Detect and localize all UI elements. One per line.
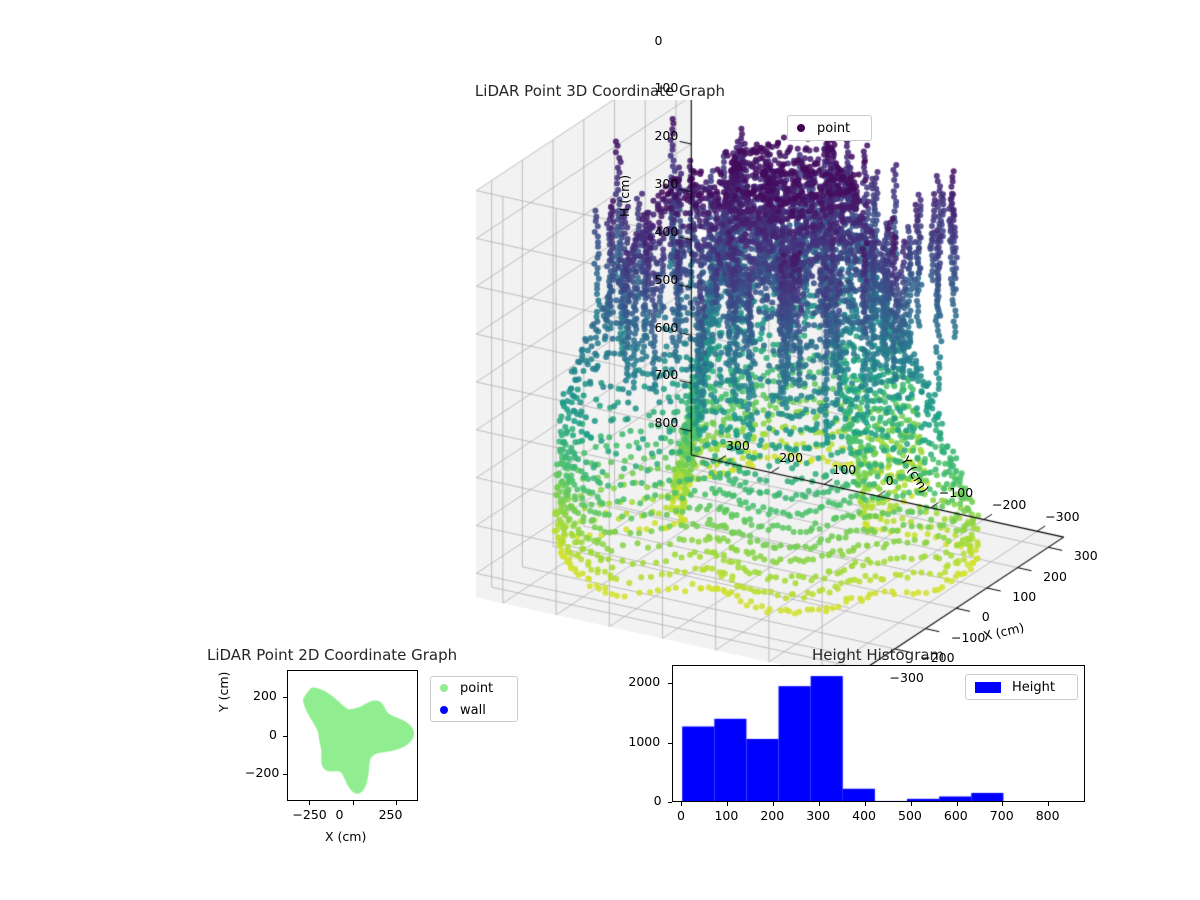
axis-tick-label: 100 xyxy=(1012,589,1036,604)
axis-tick-mark xyxy=(1048,802,1049,806)
axis-tick-label: −200 xyxy=(245,765,279,780)
axis-tick-label: 100 xyxy=(654,80,678,95)
axis-tick-label: 700 xyxy=(990,808,1014,823)
axis-tick-mark xyxy=(396,801,397,805)
plot3d-zlabel: H (cm) xyxy=(617,175,632,217)
axis-tick-label: 300 xyxy=(806,808,830,823)
axis-tick-label: 0 xyxy=(654,793,662,808)
legend-item-point: point xyxy=(431,677,517,699)
axis-tick-mark xyxy=(668,802,672,803)
wall-marker-icon xyxy=(440,706,448,714)
axis-tick-mark xyxy=(957,802,958,806)
axis-tick-label: −100 xyxy=(939,485,973,500)
plot2d-ylabel: Y (cm) xyxy=(216,672,231,712)
axis-tick-label: 0 xyxy=(654,33,662,48)
axis-tick-label: 100 xyxy=(714,808,738,823)
axis-tick-label: 0 xyxy=(886,473,894,488)
legend-item-wall: wall xyxy=(431,699,517,721)
axis-tick-label: 200 xyxy=(1043,569,1067,584)
axis-tick-label: 1000 xyxy=(628,734,660,749)
axis-tick-label: −300 xyxy=(1045,509,1079,524)
axis-tick-mark xyxy=(865,802,866,806)
plot2d-legend[interactable]: point wall xyxy=(430,676,518,722)
axis-tick-label: 200 xyxy=(654,128,678,143)
legend-label: point xyxy=(817,121,850,136)
axis-tick-mark xyxy=(1002,802,1003,806)
axis-tick-mark xyxy=(911,802,912,806)
point-marker-icon xyxy=(440,684,448,692)
axis-tick-label: 200 xyxy=(253,688,277,703)
axis-tick-label: 250 xyxy=(379,807,403,822)
plot2d-axes[interactable] xyxy=(287,670,418,801)
axis-tick-mark xyxy=(283,697,287,698)
axis-tick-label: 2000 xyxy=(628,674,660,689)
axis-tick-label: 800 xyxy=(654,415,678,430)
axis-tick-label: −200 xyxy=(920,650,954,665)
axis-tick-label: −250 xyxy=(292,807,326,822)
axis-tick-label: 300 xyxy=(726,438,750,453)
axis-tick-label: 300 xyxy=(654,176,678,191)
axis-tick-label: 400 xyxy=(654,224,678,239)
axis-tick-mark xyxy=(283,774,287,775)
axis-tick-label: 0 xyxy=(336,807,344,822)
axis-tick-mark xyxy=(353,801,354,805)
axis-tick-label: 0 xyxy=(269,727,277,742)
legend-label: Height xyxy=(1012,680,1055,695)
legend-label: wall xyxy=(460,703,486,718)
axis-tick-mark xyxy=(668,683,672,684)
height-color-swatch xyxy=(975,682,1001,693)
axis-tick-mark xyxy=(283,736,287,737)
axis-tick-label: 800 xyxy=(1036,808,1060,823)
axis-tick-label: 300 xyxy=(1074,548,1098,563)
axis-tick-label: −200 xyxy=(992,497,1026,512)
axis-tick-label: 600 xyxy=(944,808,968,823)
axis-tick-mark xyxy=(681,802,682,806)
plot3d-legend[interactable]: point xyxy=(787,115,872,141)
axis-tick-label: 400 xyxy=(852,808,876,823)
axis-tick-label: 200 xyxy=(779,450,803,465)
axis-tick-mark xyxy=(727,802,728,806)
plot3d-canvas[interactable] xyxy=(330,100,1200,680)
histogram-legend[interactable]: Height xyxy=(965,674,1078,700)
plot2d-title: LiDAR Point 2D Coordinate Graph xyxy=(207,646,457,664)
plot2d-xlabel: X (cm) xyxy=(325,829,366,844)
axis-tick-label: 500 xyxy=(654,272,678,287)
axis-tick-label: 200 xyxy=(760,808,784,823)
axis-tick-label: 500 xyxy=(898,808,922,823)
axis-tick-mark xyxy=(819,802,820,806)
axis-tick-label: 700 xyxy=(654,367,678,382)
axis-tick-mark xyxy=(668,743,672,744)
plot3d-title: LiDAR Point 3D Coordinate Graph xyxy=(0,82,1200,100)
plot2d-canvas[interactable] xyxy=(288,671,418,801)
legend-label: point xyxy=(460,681,493,696)
point-marker-icon xyxy=(797,124,805,132)
axis-tick-mark xyxy=(309,801,310,805)
axis-tick-label: 600 xyxy=(654,320,678,335)
axis-tick-mark xyxy=(773,802,774,806)
legend-item-point: point xyxy=(788,116,871,140)
legend-item-height: Height xyxy=(966,675,1077,699)
axis-tick-label: −300 xyxy=(890,670,924,685)
axis-tick-label: 0 xyxy=(677,808,685,823)
axis-tick-label: 100 xyxy=(832,462,856,477)
axis-tick-label: 0 xyxy=(982,609,990,624)
axis-tick-label: −100 xyxy=(951,630,985,645)
